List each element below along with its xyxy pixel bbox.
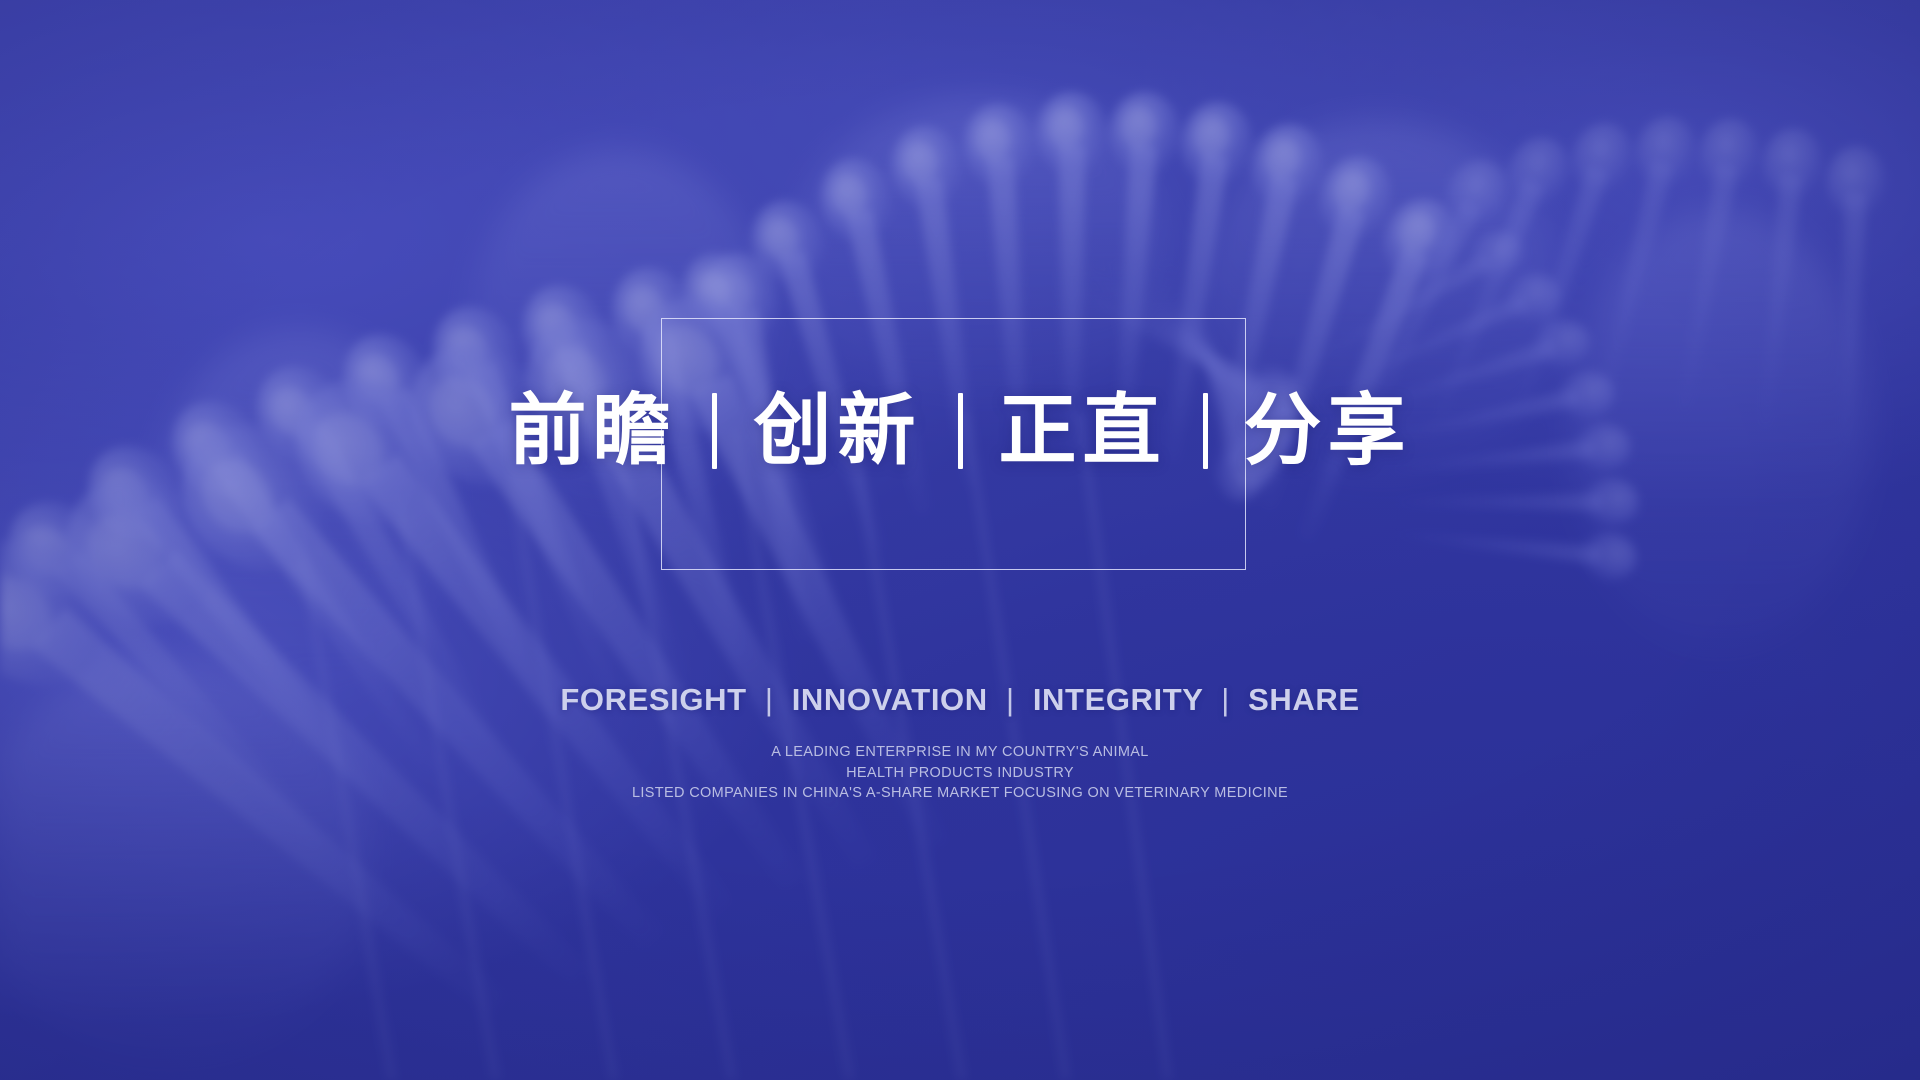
headline-separator-3 (1203, 393, 1208, 469)
caption-line-1: A LEADING ENTERPRISE IN MY COUNTRY'S ANI… (0, 742, 1920, 763)
subline-word-share: SHARE (1248, 682, 1360, 717)
subline-word-integrity: INTEGRITY (1033, 682, 1203, 717)
caption-line-2: HEALTH PRODUCTS INDUSTRY (0, 763, 1920, 784)
subline-word-innovation: INNOVATION (792, 682, 988, 717)
headline-word-foresight: 前瞻 (508, 392, 676, 470)
headline-separator-2 (958, 393, 963, 469)
values-subline-english: FORESIGHT | INNOVATION | INTEGRITY | SHA… (0, 682, 1920, 718)
values-headline-chinese: 前瞻 创新 正直 分享 (0, 376, 1920, 486)
headline-word-share: 分享 (1244, 392, 1412, 470)
banner-content: 前瞻 创新 正直 分享 FORESIGHT | INNOVATION | INT… (0, 0, 1920, 1080)
subline-separator-1: | (765, 682, 774, 718)
headline-separator-1 (712, 393, 717, 469)
subline-word-foresight: FORESIGHT (560, 682, 746, 717)
company-description: A LEADING ENTERPRISE IN MY COUNTRY'S ANI… (0, 742, 1920, 804)
headline-word-integrity: 正直 (999, 392, 1167, 470)
caption-line-3: LISTED COMPANIES IN CHINA'S A-SHARE MARK… (0, 783, 1920, 804)
headline-word-innovation: 创新 (753, 392, 921, 470)
subline-separator-3: | (1221, 682, 1230, 718)
subline-separator-2: | (1006, 682, 1015, 718)
banner-stage: 前瞻 创新 正直 分享 FORESIGHT | INNOVATION | INT… (0, 0, 1920, 1080)
